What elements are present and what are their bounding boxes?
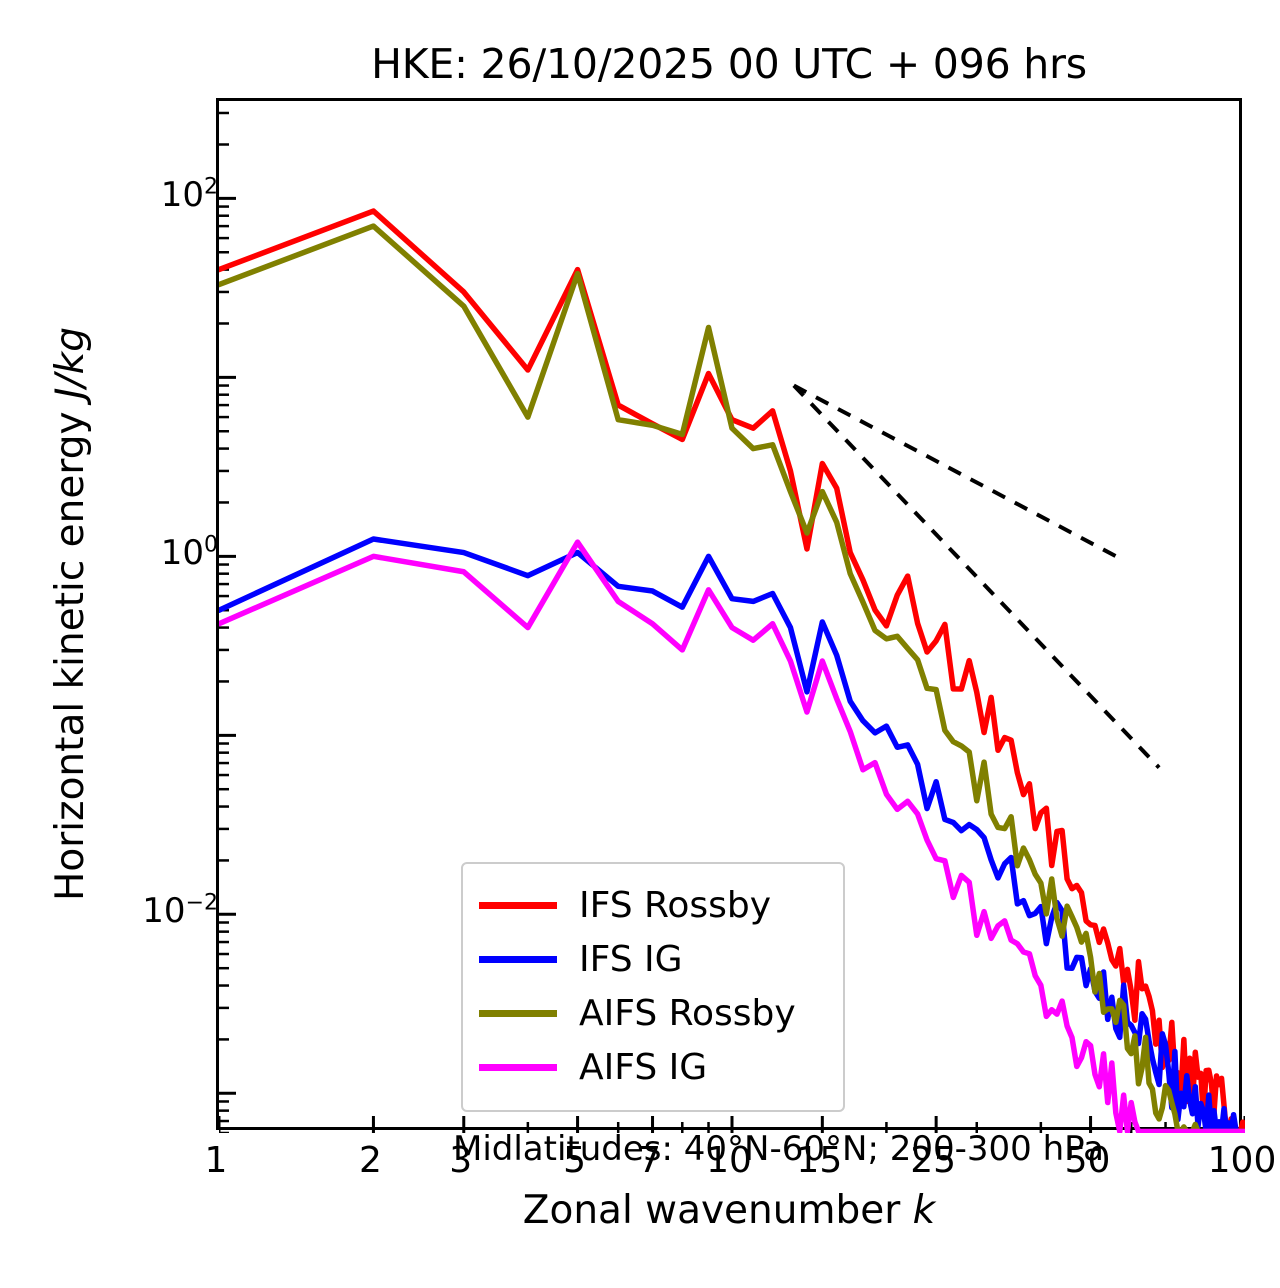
legend-item-aifs-ig[interactable]: AIFS IG xyxy=(479,1040,827,1094)
y-axis-label: Horizontal kinetic energy J/kg xyxy=(40,98,102,1130)
legend-item-ifs-ig[interactable]: IFS IG xyxy=(479,932,827,986)
legend-item-ifs-rossby[interactable]: IFS Rossby xyxy=(479,878,827,932)
y-tick-label-1: 100 xyxy=(161,533,218,573)
x-tick-label-2: 2 xyxy=(359,1140,382,1181)
x-tick-label-10: 10 xyxy=(706,1140,752,1181)
x-tick-label-1: 1 xyxy=(205,1140,228,1181)
y-tick-label-2: 10−2 xyxy=(142,891,218,931)
x-axis-label-symbol: k xyxy=(913,1188,936,1233)
x-tick-label-5: 5 xyxy=(563,1140,586,1181)
legend-swatch-aifs-rossby xyxy=(479,1010,557,1017)
legend-label-aifs-rossby: AIFS Rossby xyxy=(579,993,796,1034)
x-tick-label-7: 7 xyxy=(638,1140,661,1181)
legend-label-aifs-ig: AIFS IG xyxy=(579,1047,707,1088)
y-axis-label-text: Horizontal kinetic energy xyxy=(48,399,93,901)
plot-area: IFS Rossby IFS IG AIFS Rossby AIFS IG Mi… xyxy=(216,98,1242,1130)
legend-swatch-ifs-ig xyxy=(479,956,557,963)
x-tick-label-3: 3 xyxy=(449,1140,472,1181)
reference-line-five-thirds xyxy=(794,386,1124,561)
x-tick-label-15: 15 xyxy=(796,1140,842,1181)
legend-swatch-ifs-rossby xyxy=(479,902,557,909)
page-title: HKE: 26/10/2025 00 UTC + 096 hrs xyxy=(216,40,1242,88)
legend-item-aifs-rossby[interactable]: AIFS Rossby xyxy=(479,986,827,1040)
region-annotation: Midlatitudes: 40°N-60°N; 200-300 hPa xyxy=(453,1129,1104,1169)
x-axis-label-text: Zonal wavenumber xyxy=(523,1188,913,1233)
y-tick-label-0: 102 xyxy=(161,175,218,215)
x-tick-label-25: 25 xyxy=(910,1140,956,1181)
x-tick-label-50: 50 xyxy=(1065,1140,1111,1181)
x-axis-label: Zonal wavenumber k xyxy=(216,1188,1242,1233)
legend-box: IFS Rossby IFS IG AIFS Rossby AIFS IG xyxy=(461,862,845,1112)
x-tick-label-100: 100 xyxy=(1208,1140,1277,1181)
y-axis-label-unit: J/kg xyxy=(48,327,93,399)
legend-label-ifs-ig: IFS IG xyxy=(579,939,683,980)
legend-swatch-aifs-ig xyxy=(479,1064,557,1071)
figure-canvas: HKE: 26/10/2025 00 UTC + 096 hrs IFS Ros… xyxy=(0,0,1280,1288)
legend-label-ifs-rossby: IFS Rossby xyxy=(579,885,771,926)
